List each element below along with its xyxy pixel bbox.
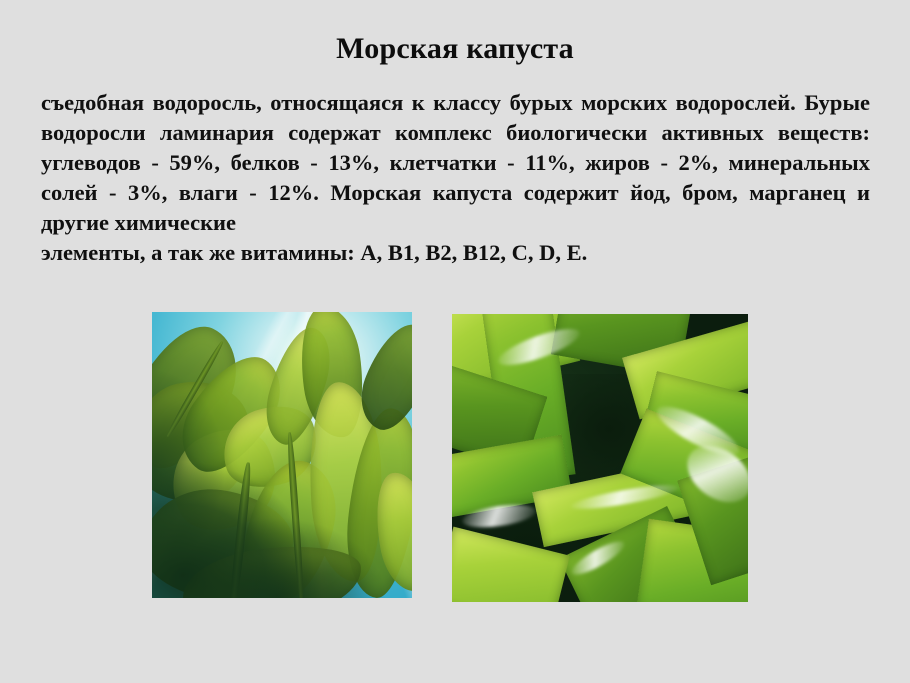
body-paragraph: съедобная водоросль, относящаяся к класс…	[41, 88, 870, 268]
presentation-slide: Морская капуста съедобная водоросль, отн…	[0, 0, 910, 683]
body-paragraph-main: съедобная водоросль, относящаяся к класс…	[41, 90, 870, 235]
page-title: Морская капуста	[0, 32, 910, 66]
depth-shadow	[152, 312, 412, 598]
kelp-underwater-photo	[152, 312, 412, 598]
body-paragraph-tail: элементы, а так же витамины: A, B1, B2, …	[41, 238, 870, 268]
seaweed-closeup-photo	[452, 314, 748, 602]
